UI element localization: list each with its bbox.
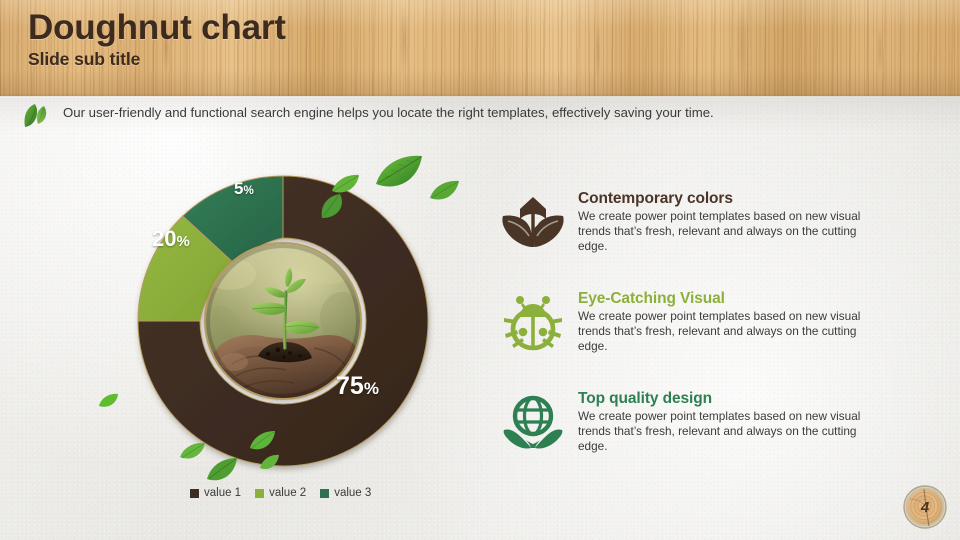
feature-body: We create power point templates based on… xyxy=(578,209,888,254)
page-subtitle: Slide sub title xyxy=(28,49,286,70)
feature-body: We create power point templates based on… xyxy=(578,409,888,454)
feature-body: We create power point templates based on… xyxy=(578,309,888,354)
legend-item[interactable]: value 3 xyxy=(320,487,371,499)
two-leaves-icon xyxy=(22,102,60,132)
data-label-value-2: 20% xyxy=(152,226,190,252)
data-label-value-1: 75% xyxy=(336,372,379,401)
wood-header-edge xyxy=(0,94,960,98)
legend-item[interactable]: value 1 xyxy=(190,487,241,499)
globe-in-hands-icon xyxy=(502,394,564,452)
slide-canvas: Doughnut chart Slide sub title Our user-… xyxy=(0,0,960,540)
legend-label: value 3 xyxy=(334,487,371,499)
feature-item-contemporary-colors[interactable]: Contemporary colors We create power poin… xyxy=(500,190,920,290)
feature-list: Contemporary colors We create power poin… xyxy=(500,190,920,490)
chart-legend: value 1 value 2 value 3 xyxy=(190,487,371,499)
feature-title: Eye-Catching Visual xyxy=(578,290,920,308)
page-number-badge[interactable]: 4 xyxy=(903,485,947,529)
lead-paragraph: Our user-friendly and functional search … xyxy=(63,104,823,122)
feature-item-top-quality-design[interactable]: Top quality design We create power point… xyxy=(500,390,920,490)
feature-title: Contemporary colors xyxy=(578,190,920,208)
sprout-leaves-icon xyxy=(502,194,564,252)
legend-label: value 1 xyxy=(204,487,241,499)
legend-item[interactable]: value 2 xyxy=(255,487,306,499)
page-number: 4 xyxy=(903,485,947,529)
legend-swatch xyxy=(190,489,199,498)
doughnut-chart: 75% 20% 5% xyxy=(130,168,436,474)
legend-swatch xyxy=(255,489,264,498)
legend-swatch xyxy=(320,489,329,498)
feature-title: Top quality design xyxy=(578,390,920,408)
title-block: Doughnut chart Slide sub title xyxy=(28,8,286,70)
feature-item-eye-catching-visual[interactable]: Eye-Catching Visual We create power poin… xyxy=(500,290,920,390)
ladybug-icon xyxy=(502,294,564,352)
data-label-value-3: 5% xyxy=(234,179,254,199)
page-title: Doughnut chart xyxy=(28,8,286,47)
legend-label: value 2 xyxy=(269,487,306,499)
